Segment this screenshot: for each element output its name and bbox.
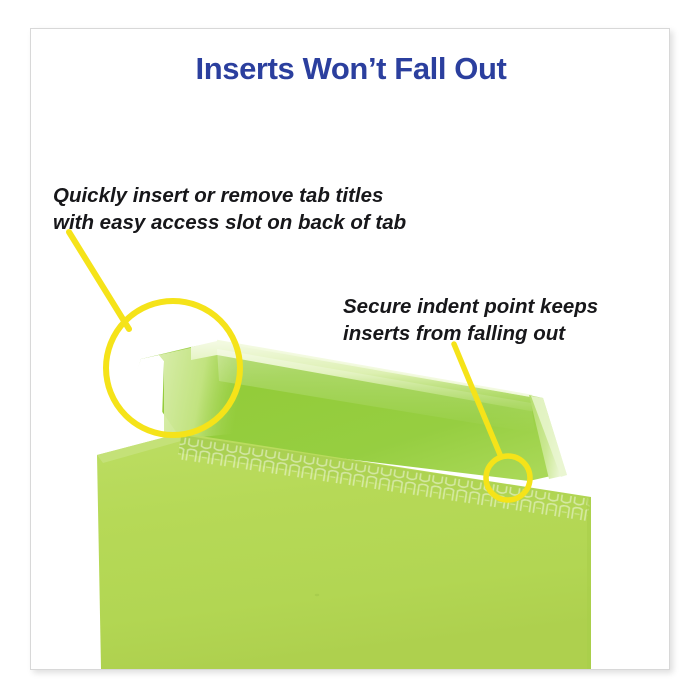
callout-right: Secure indent point keeps inserts from f… (343, 293, 598, 347)
divider-artwork (97, 341, 628, 669)
panel-speck (315, 594, 319, 596)
callout-left-line2: with easy access slot on back of tab (53, 209, 406, 236)
product-image-card: Inserts Won’t Fall Out Quickly insert or… (30, 28, 670, 670)
callout-left-line1: Quickly insert or remove tab titles (53, 182, 406, 209)
product-photo (31, 29, 669, 669)
callout-left: Quickly insert or remove tab titles with… (53, 182, 406, 236)
tab-access-slot (135, 355, 164, 439)
screenshot-root: Inserts Won’t Fall Out Quickly insert or… (0, 0, 700, 700)
callout-right-line1: Secure indent point keeps (343, 293, 598, 320)
page-title: Inserts Won’t Fall Out (31, 51, 670, 87)
panel-right-edge (587, 497, 591, 669)
divider-photo-svg (31, 29, 669, 669)
callout-right-line2: inserts from falling out (343, 320, 598, 347)
